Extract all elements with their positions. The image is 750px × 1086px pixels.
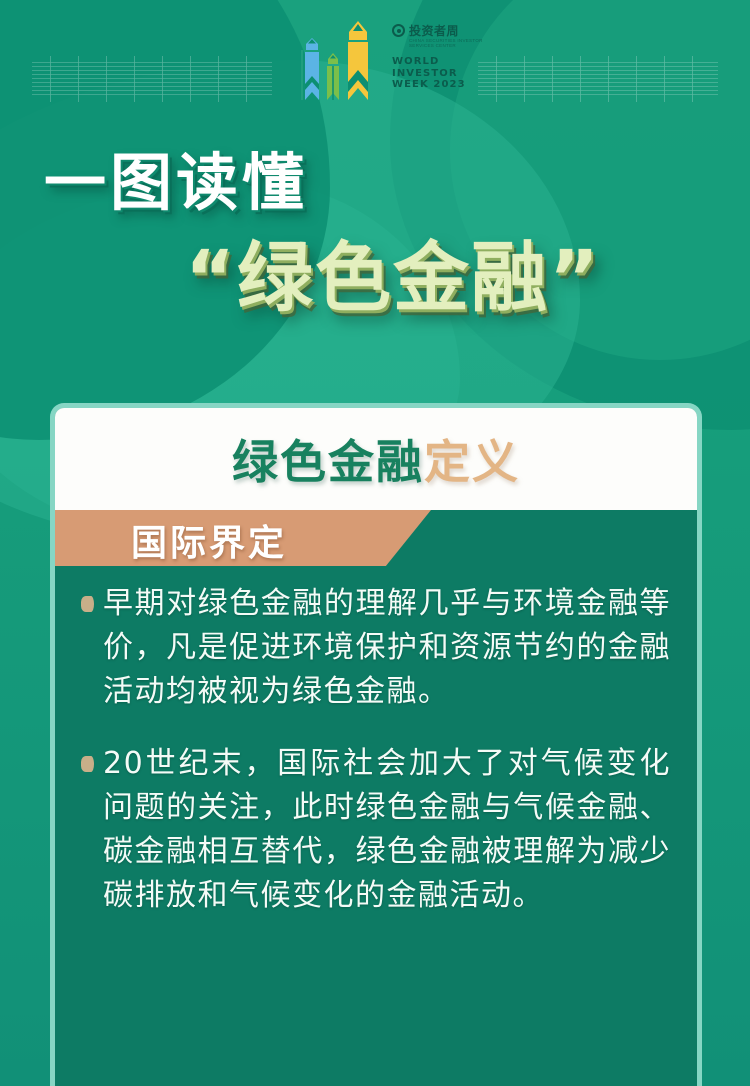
line-ornament-right: [478, 62, 718, 96]
card-title-tan-part: 定义: [424, 435, 520, 489]
bullet-marker-icon: [81, 756, 94, 772]
section-banner-label: 国际界定: [131, 514, 287, 566]
paragraph-item: 20世纪末，国际社会加大了对气候变化问题的关注，此时绿色金融与气候金融、碳金融相…: [81, 742, 671, 918]
organization-logo-mark: 投资者周: [392, 22, 459, 39]
content-card: 绿色金融定义 国际界定 早期对绿色金融的理解几乎与环境金融等价，凡是促进环境保护…: [50, 403, 702, 1086]
org-logo-subtitle: CHINA SECURITIES INVESTOR SERVICES CENTE…: [409, 38, 492, 48]
headline-line-1: 一图读懂: [44, 132, 308, 222]
card-body: 早期对绿色金融的理解几乎与环境金融等价，凡是促进环境保护和资源节约的金融活动均被…: [55, 566, 697, 918]
bullet-marker-icon: [81, 596, 94, 612]
infographic-page: 投资者周 CHINA SECURITIES INVESTOR SERVICES …: [0, 0, 750, 1086]
paragraph-text: 早期对绿色金融的理解几乎与环境金融等价，凡是促进环境保护和资源节约的金融活动均被…: [103, 582, 671, 714]
world-investor-week-text: WORLD INVESTOR WEEK 2023: [392, 56, 466, 91]
headline-line-2: “绿色金融”: [185, 216, 601, 326]
section-banner: 国际界定: [55, 510, 697, 566]
org-logo-label: 投资者周: [409, 22, 459, 39]
card-title: 绿色金融定义: [232, 426, 520, 492]
world-investor-week-logo: 投资者周 CHINA SECURITIES INVESTOR SERVICES …: [292, 10, 492, 110]
pencil-logo-icon: [292, 14, 388, 110]
org-emblem-icon: [392, 24, 405, 37]
line-ornament-left: [32, 62, 272, 96]
card-header: 绿色金融定义: [55, 408, 697, 510]
paragraph-item: 早期对绿色金融的理解几乎与环境金融等价，凡是促进环境保护和资源节约的金融活动均被…: [81, 582, 671, 714]
paragraph-text: 20世纪末，国际社会加大了对气候变化问题的关注，此时绿色金融与气候金融、碳金融相…: [103, 742, 671, 918]
card-title-green-part: 绿色金融: [232, 435, 424, 489]
